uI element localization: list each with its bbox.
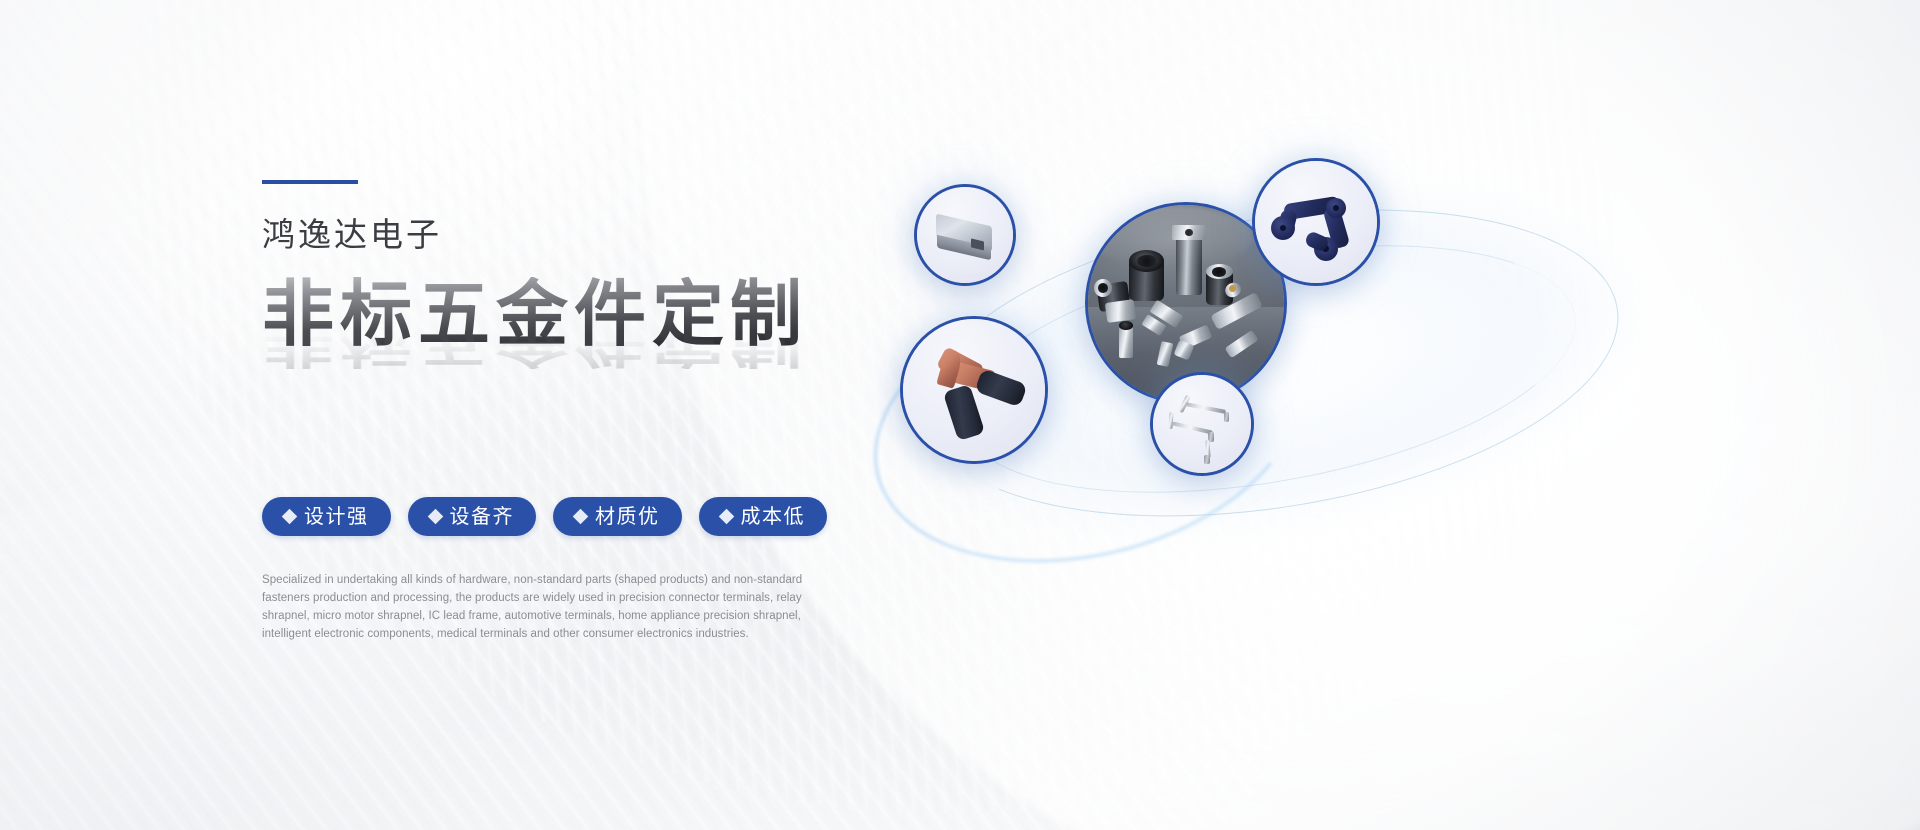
- feature-pill-label: 设计强: [304, 507, 369, 527]
- page-title: 非标五金件定制: [262, 277, 902, 353]
- feature-pill-equipment[interactable]: 设备齐: [408, 497, 537, 536]
- feature-pill-label: 材质优: [595, 507, 660, 527]
- product-bubble-battery-clamp[interactable]: [900, 316, 1048, 464]
- product-showcase: [900, 140, 1720, 610]
- part-left-connector-bore: [1098, 283, 1108, 293]
- clamp-handle-left: [943, 384, 986, 441]
- diamond-icon: [282, 509, 298, 525]
- bubble-background: [903, 319, 1045, 461]
- product-bubble-bent-metal-brackets[interactable]: [1150, 372, 1254, 476]
- hero-text-block: 鸿逸达电子 非标五金件定制 非标五金件定制 设计强 设备齐 材质优 成本低: [262, 180, 902, 644]
- bracket-b-leg: [1168, 412, 1173, 429]
- bracket-a-span: [1185, 402, 1226, 414]
- clip-eyelet-top: [1326, 198, 1347, 219]
- part-left-connector-flange: [1104, 299, 1136, 322]
- bracket-b-end: [1204, 455, 1210, 464]
- product-bubble-metal-enclosure-box[interactable]: [914, 184, 1016, 286]
- hero-banner: 鸿逸达电子 非标五金件定制 非标五金件定制 设计强 设备齐 材质优 成本低: [0, 0, 1920, 830]
- accent-rule: [262, 180, 358, 184]
- product-bubble-blue-retaining-clip[interactable]: [1252, 158, 1380, 286]
- feature-pill-label: 设备齐: [450, 507, 515, 527]
- diamond-icon: [573, 509, 589, 525]
- bracket-a-tip: [1224, 412, 1230, 422]
- description-paragraph: Specialized in undertaking all kinds of …: [262, 571, 837, 644]
- bracket-b-span: [1172, 421, 1213, 434]
- diamond-icon: [427, 509, 443, 525]
- feature-pill-label: 成本低: [741, 507, 806, 527]
- diamond-icon: [718, 509, 734, 525]
- headline-wrapper: 非标五金件定制 非标五金件定制: [262, 277, 902, 405]
- feature-pill-design[interactable]: 设计强: [262, 497, 391, 536]
- feature-pill-row: 设计强 设备齐 材质优 成本低: [262, 497, 902, 536]
- part-vertical-pin: [1119, 327, 1133, 358]
- bubble-background: [917, 187, 1013, 283]
- table-reflection: [1088, 205, 1253, 268]
- part-dark-socket-bore: [1212, 267, 1226, 277]
- bubble-background: [1255, 161, 1377, 283]
- feature-pill-material[interactable]: 材质优: [553, 497, 682, 536]
- clamp-handle-right: [974, 368, 1028, 407]
- bubble-background: [1153, 375, 1251, 473]
- feature-pill-cost[interactable]: 成本低: [699, 497, 828, 536]
- clamp-reflection: [903, 319, 988, 350]
- clip-eyelet-left: [1271, 216, 1295, 240]
- brand-name: 鸿逸达电子: [262, 218, 902, 251]
